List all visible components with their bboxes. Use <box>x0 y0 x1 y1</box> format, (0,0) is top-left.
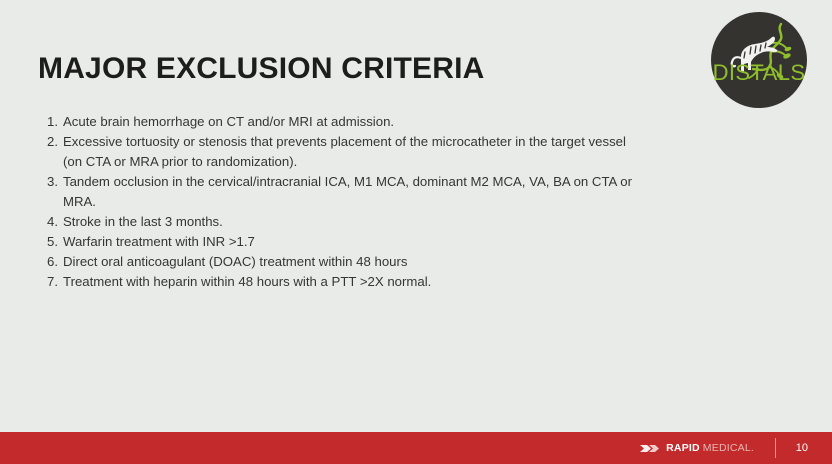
list-item-number: 6. <box>38 252 58 272</box>
footer-bar: RAPID MEDICAL. 10 <box>0 432 832 464</box>
list-item-text: Direct oral anticoagulant (DOAC) treatme… <box>63 252 648 272</box>
list-item: 7. Treatment with heparin within 48 hour… <box>38 272 648 292</box>
list-item-number: 2. <box>38 132 58 152</box>
page-number: 10 <box>796 432 808 464</box>
slide-canvas: MAJOR EXCLUSION CRITERIA 1. Acute brain … <box>0 0 832 464</box>
brand-secondary-text: MEDICAL. <box>703 442 754 454</box>
list-item-text: Warfarin treatment with INR >1.7 <box>63 232 648 252</box>
list-item: 4. Stroke in the last 3 months. <box>38 212 648 232</box>
list-item-number: 3. <box>38 172 58 192</box>
list-item-text: Treatment with heparin within 48 hours w… <box>63 272 648 292</box>
page-title: MAJOR EXCLUSION CRITERIA <box>38 54 485 84</box>
brand-primary-text: RAPID <box>666 442 700 454</box>
list-item: 3. Tandem occlusion in the cervical/intr… <box>38 172 648 212</box>
list-item-number: 5. <box>38 232 58 252</box>
list-item-text: Acute brain hemorrhage on CT and/or MRI … <box>63 112 648 132</box>
list-item-text: Excessive tortuosity or stenosis that pr… <box>63 132 648 172</box>
list-item-number: 4. <box>38 212 58 232</box>
list-item-number: 7. <box>38 272 58 292</box>
list-item-number: 1. <box>38 112 58 132</box>
rapid-medical-chevron-icon <box>640 443 662 454</box>
list-item-text: Tandem occlusion in the cervical/intracr… <box>63 172 648 212</box>
list-item: 6. Direct oral anticoagulant (DOAC) trea… <box>38 252 648 272</box>
list-item: 2. Excessive tortuosity or stenosis that… <box>38 132 648 172</box>
distals-wordmark: DISTALS <box>711 62 807 84</box>
distals-logo: DISTALS <box>711 12 807 108</box>
list-item-text: Stroke in the last 3 months. <box>63 212 648 232</box>
rapid-medical-brand: RAPID MEDICAL. <box>640 432 754 464</box>
list-item: 5. Warfarin treatment with INR >1.7 <box>38 232 648 252</box>
list-item: 1. Acute brain hemorrhage on CT and/or M… <box>38 112 648 132</box>
exclusion-criteria-list: 1. Acute brain hemorrhage on CT and/or M… <box>38 112 648 292</box>
footer-divider <box>775 438 776 458</box>
